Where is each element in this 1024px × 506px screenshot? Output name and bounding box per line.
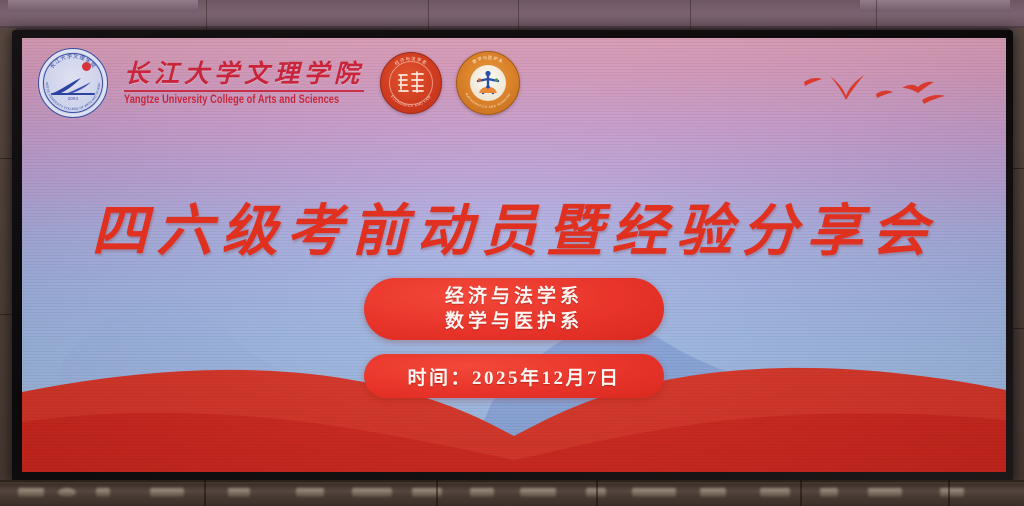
header-logo-row: 2004 长江大学文理学院 YANGTZE UNIVERSITY COLLEGE… bbox=[38, 48, 520, 118]
math-nursing-dept-seal-icon: 数学与医护系 MATHEMATICS AND NURSING bbox=[456, 51, 520, 115]
svg-text:数学与医护系: 数学与医护系 bbox=[471, 54, 505, 65]
red-hills-front bbox=[22, 388, 1006, 472]
university-name-block: 长江大学文理学院 Yangtze University College of A… bbox=[124, 62, 364, 104]
dept-line-1: 经济与法学系 bbox=[445, 284, 583, 309]
date-pill: 时间：2025年12月7日 bbox=[364, 354, 664, 398]
name-divider bbox=[124, 90, 364, 91]
svg-text:MATHEMATICS AND NURSING: MATHEMATICS AND NURSING bbox=[464, 92, 511, 109]
seal-arc-text: 长江大学文理学院 YANGTZE UNIVERSITY COLLEGE OF A… bbox=[39, 49, 107, 117]
led-screen: 2004 长江大学文理学院 YANGTZE UNIVERSITY COLLEGE… bbox=[22, 38, 1006, 472]
university-name-en: Yangtze University College of Arts and S… bbox=[124, 93, 364, 106]
dept-seal-arc-text: 经济与法学系 ECONOMICS AND LAW bbox=[381, 53, 441, 113]
svg-text:ECONOMICS AND LAW: ECONOMICS AND LAW bbox=[390, 94, 432, 108]
svg-text:长江大学文理学院: 长江大学文理学院 bbox=[48, 52, 98, 70]
dept-emblem-arc-text: 数学与医护系 MATHEMATICS AND NURSING bbox=[457, 52, 519, 114]
foreground-desk bbox=[0, 480, 1024, 506]
university-seal-icon: 2004 长江大学文理学院 YANGTZE UNIVERSITY COLLEGE… bbox=[38, 48, 108, 118]
flying-birds-decoration-icon bbox=[794, 60, 984, 122]
conference-room-scene: 2004 长江大学文理学院 YANGTZE UNIVERSITY COLLEGE… bbox=[0, 0, 1024, 506]
event-date-text: 时间：2025年12月7日 bbox=[407, 363, 620, 390]
dept-line-2: 数学与医护系 bbox=[445, 309, 583, 334]
svg-text:经济与法学系: 经济与法学系 bbox=[393, 55, 429, 66]
page-title: 四六级考前动员暨经验分享会 bbox=[22, 186, 1006, 267]
university-name-cn: 长江大学文理学院 bbox=[124, 62, 364, 88]
economics-law-dept-seal-icon: 经济与法学系 ECONOMICS AND LAW bbox=[380, 52, 442, 114]
desk-blurred-objects bbox=[0, 486, 1024, 498]
departments-pill: 经济与法学系 数学与医护系 bbox=[364, 278, 664, 340]
